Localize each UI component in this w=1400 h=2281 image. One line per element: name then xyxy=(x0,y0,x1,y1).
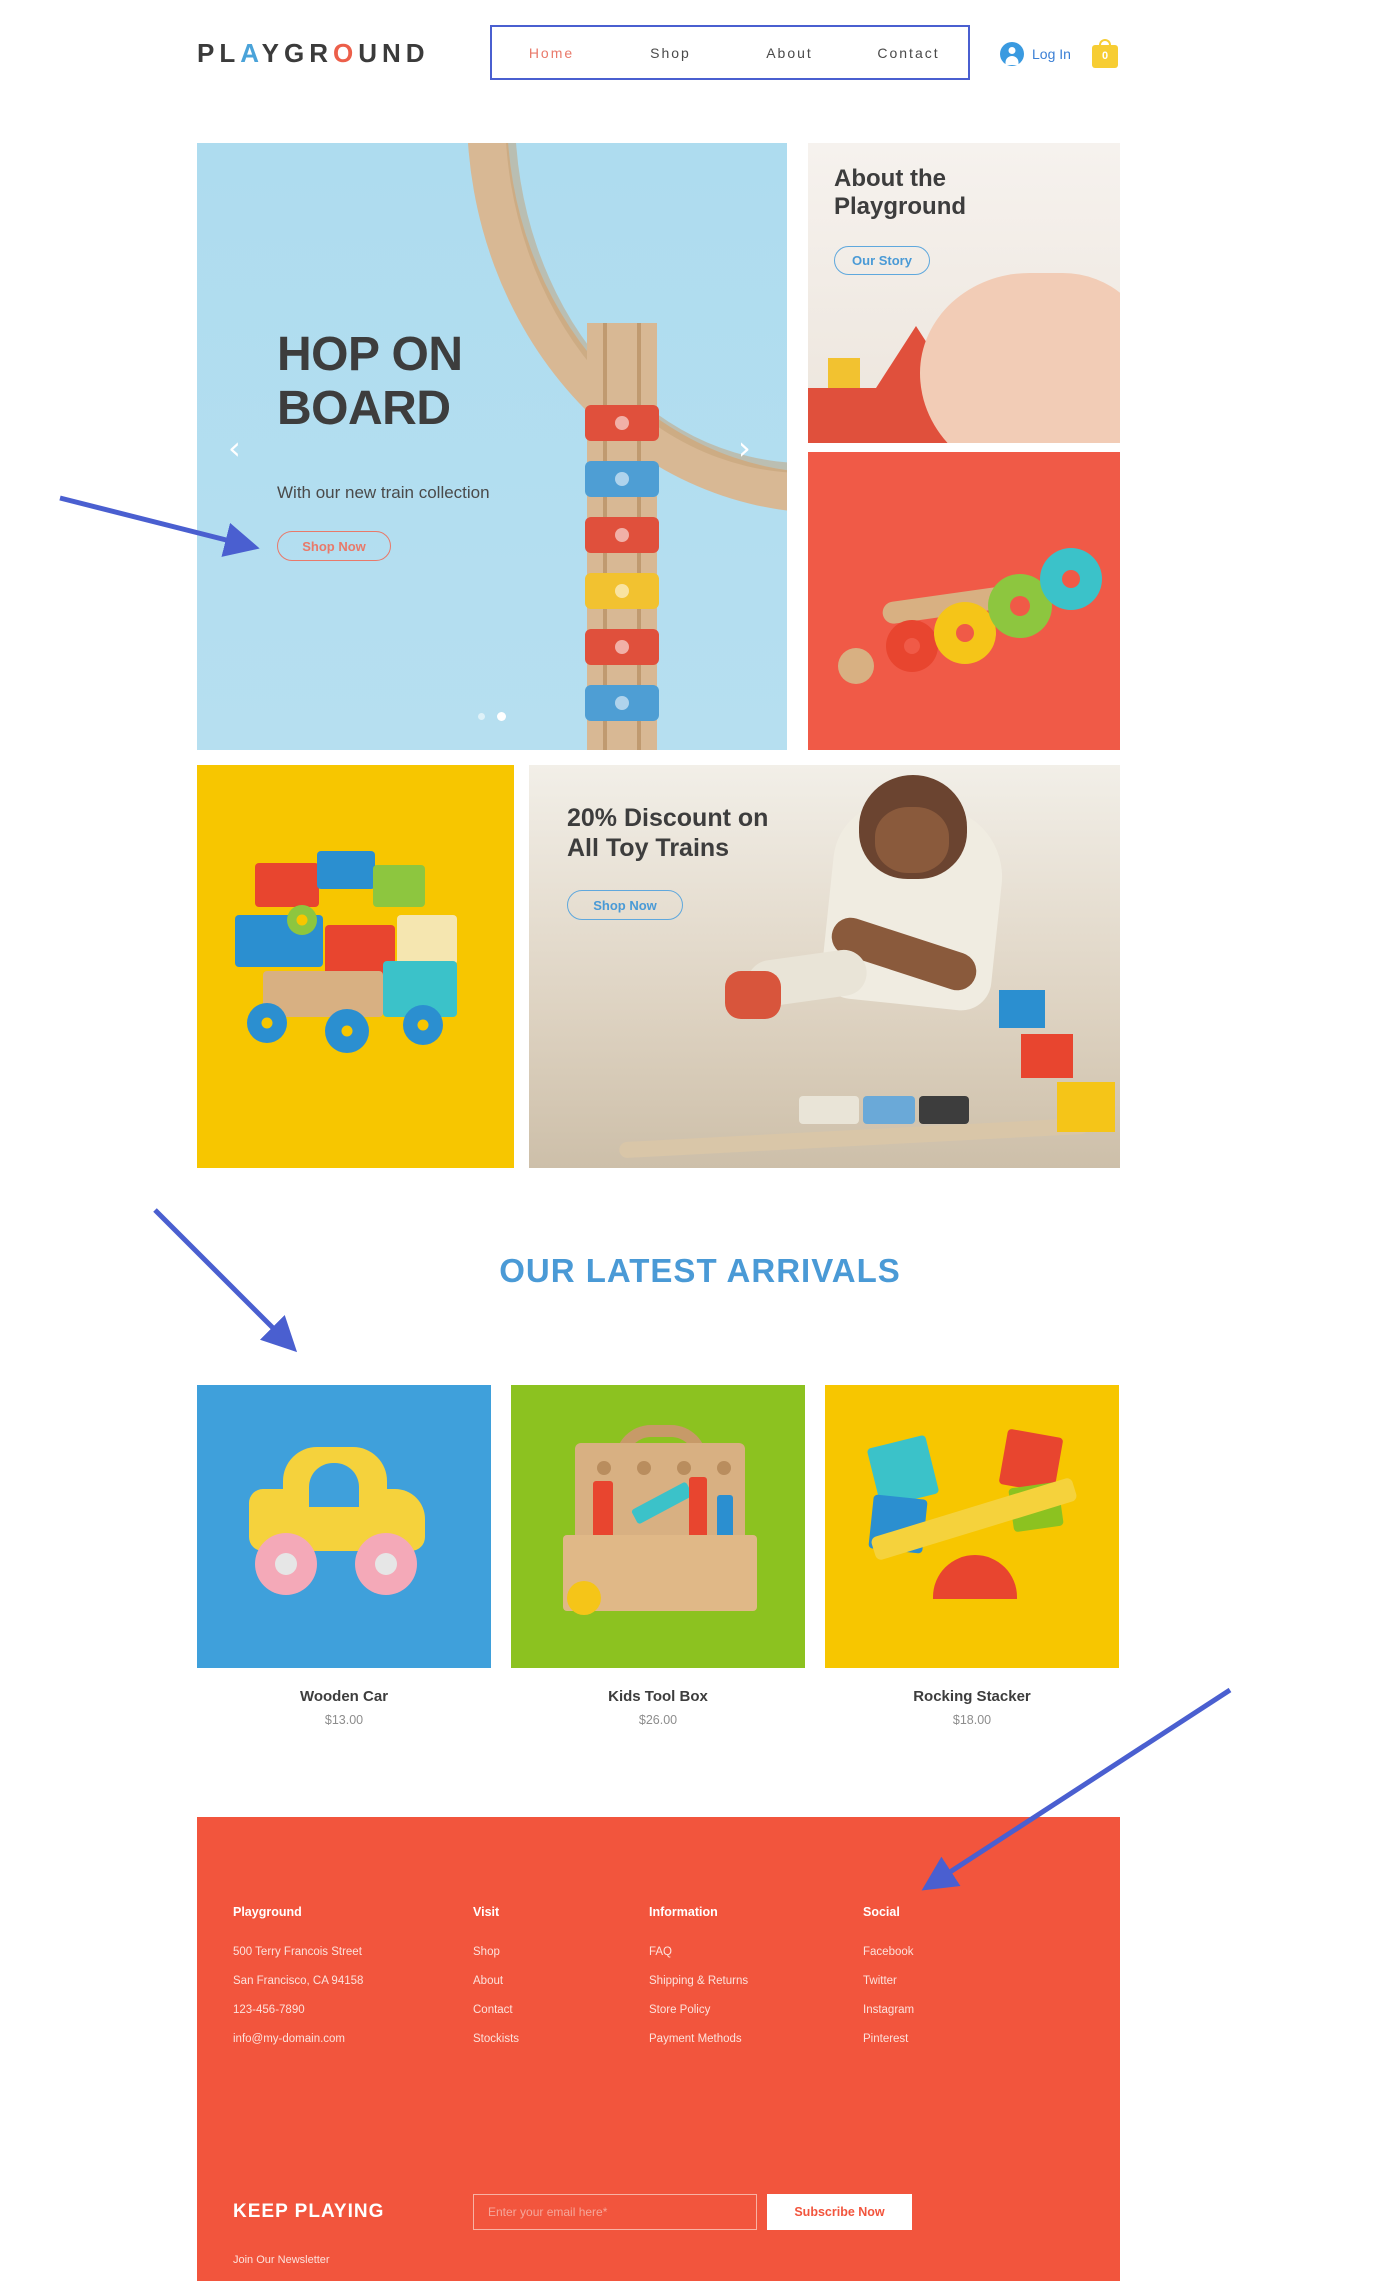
footer-column-playground: Playground 500 Terry Francois Street San… xyxy=(233,1905,363,2062)
stacker-ring-hole-art xyxy=(1062,570,1080,588)
footer-link-payment-methods[interactable]: Payment Methods xyxy=(649,2033,748,2045)
footer-link-about[interactable]: About xyxy=(473,1975,519,1987)
hero-subtitle: With our new train collection xyxy=(277,483,490,503)
carousel-dots xyxy=(478,713,506,721)
product-price: $26.00 xyxy=(511,1713,805,1727)
carousel-dot-1[interactable] xyxy=(478,713,485,720)
primary-nav: Home Shop About Contact xyxy=(490,25,970,80)
product-image-kids-tool-box[interactable] xyxy=(511,1385,805,1668)
subscribe-now-button[interactable]: Subscribe Now xyxy=(767,2194,912,2230)
footer-email[interactable]: info@my-domain.com xyxy=(233,2033,363,2045)
footer-column-title: Visit xyxy=(473,1905,519,1919)
carousel-prev-arrow-icon[interactable]: ‹ xyxy=(228,432,241,464)
train-car-art xyxy=(799,1096,859,1124)
stacker-ring-hole-art xyxy=(904,638,920,654)
toy-block-art xyxy=(397,915,457,965)
toy-block-art xyxy=(1021,1034,1073,1078)
discount-banner-card[interactable]: 20% Discount on All Toy Trains Shop Now xyxy=(529,765,1120,1168)
newsletter-heading: KEEP PLAYING xyxy=(233,2201,384,2223)
train-piece-art xyxy=(585,685,659,721)
latest-arrivals-heading: OUR LATEST ARRIVALS xyxy=(0,1252,1400,1290)
toy-block-art xyxy=(999,990,1045,1028)
footer-column-social: Social Facebook Twitter Instagram Pinter… xyxy=(863,1905,914,2062)
discount-title: 20% Discount on All Toy Trains xyxy=(567,803,768,863)
about-title-line-1: About the xyxy=(834,165,966,193)
product-image-wooden-car[interactable] xyxy=(197,1385,491,1668)
tool-box-hole-art xyxy=(637,1461,651,1475)
logo-letter-o: O xyxy=(333,38,358,68)
child-sock-art xyxy=(725,971,781,1019)
cart-icon[interactable]: 0 xyxy=(1092,38,1118,68)
toy-knob-art xyxy=(287,905,317,935)
login-button[interactable]: Log In xyxy=(1000,42,1071,66)
product-price: $13.00 xyxy=(197,1713,491,1727)
toy-wheel-art xyxy=(247,1003,287,1043)
carousel-next-arrow-icon[interactable]: › xyxy=(738,432,751,464)
footer-link-instagram[interactable]: Instagram xyxy=(863,2004,914,2016)
our-story-button[interactable]: Our Story xyxy=(834,246,930,275)
stacker-ring-art xyxy=(838,648,874,684)
logo-letter-a: A xyxy=(240,38,261,68)
hero-title-line-2: BOARD xyxy=(277,382,597,436)
product-image-rocking-stacker[interactable] xyxy=(825,1385,1119,1668)
toy-block-art xyxy=(255,863,319,907)
footer-column-title: Playground xyxy=(233,1905,363,1919)
stacker-base-art xyxy=(933,1555,1017,1599)
nav-item-about[interactable]: About xyxy=(730,45,849,61)
hero-title-line-1: HOP ON xyxy=(277,328,597,382)
tool-box-hole-art xyxy=(717,1461,731,1475)
hero-title: HOP ON BOARD xyxy=(277,328,597,436)
train-car-art xyxy=(863,1096,915,1124)
site-header: PLAYGROUND Home Shop About Contact Log I… xyxy=(0,0,1400,88)
footer-column-title: Information xyxy=(649,1905,748,1919)
about-card-title: About the Playground xyxy=(834,165,966,220)
toy-car-wheel-art xyxy=(255,1533,317,1595)
toy-car-window-art xyxy=(309,1463,359,1507)
footer-column-title: Social xyxy=(863,1905,914,1919)
carousel-dot-2[interactable] xyxy=(497,712,506,721)
product-name: Wooden Car xyxy=(197,1688,491,1705)
product-price: $18.00 xyxy=(825,1713,1119,1727)
logo-part-pre: PL xyxy=(197,38,240,68)
annotation-arrow-latest-arrivals xyxy=(150,1205,340,1375)
footer-link-stockists[interactable]: Stockists xyxy=(473,2033,519,2045)
product-card-rocking-stacker[interactable]: Rocking Stacker $18.00 xyxy=(825,1385,1119,1727)
toy-wheel-art xyxy=(403,1005,443,1045)
logo-part-mid: YGR xyxy=(262,38,333,68)
toy-block-art xyxy=(373,865,425,907)
train-piece-art xyxy=(585,629,659,665)
logo-part-post: UND xyxy=(358,38,429,68)
toy-block-art xyxy=(1057,1082,1115,1132)
hero-shop-now-button[interactable]: Shop Now xyxy=(277,531,391,561)
toy-wheel-art xyxy=(325,1009,369,1053)
about-title-line-2: Playground xyxy=(834,193,966,221)
footer-phone[interactable]: 123-456-7890 xyxy=(233,2004,363,2016)
footer-column-information: Information FAQ Shipping & Returns Store… xyxy=(649,1905,748,2062)
footer-link-shipping-returns[interactable]: Shipping & Returns xyxy=(649,1975,748,1987)
toy-car-wheel-art xyxy=(355,1533,417,1595)
site-footer: Playground 500 Terry Francois Street San… xyxy=(197,1817,1120,2281)
newsletter-subheading: Join Our Newsletter xyxy=(233,2254,330,2266)
stacker-ring-hole-art xyxy=(1010,596,1030,616)
about-playground-card[interactable]: About the Playground Our Story xyxy=(808,143,1120,443)
nav-item-contact[interactable]: Contact xyxy=(849,45,968,61)
tool-box-hole-art xyxy=(677,1461,691,1475)
stacker-ring-hole-art xyxy=(956,624,974,642)
footer-link-facebook[interactable]: Facebook xyxy=(863,1946,914,1958)
page-root: PLAYGROUND Home Shop About Contact Log I… xyxy=(0,0,1400,2281)
footer-link-contact[interactable]: Contact xyxy=(473,2004,519,2016)
product-card-kids-tool-box[interactable]: Kids Tool Box $26.00 xyxy=(511,1385,805,1727)
tool-box-hole-art xyxy=(597,1461,611,1475)
user-avatar-icon xyxy=(1000,42,1024,66)
footer-link-shop[interactable]: Shop xyxy=(473,1946,519,1958)
discount-title-line-2: All Toy Trains xyxy=(567,833,768,863)
train-piece-art xyxy=(585,461,659,497)
toy-tool-art xyxy=(567,1581,601,1615)
about-card-cube-art xyxy=(828,358,860,388)
footer-column-visit: Visit Shop About Contact Stockists xyxy=(473,1905,519,2062)
product-name: Kids Tool Box xyxy=(511,1688,805,1705)
child-face-art xyxy=(875,807,949,873)
cart-count-badge: 0 xyxy=(1092,50,1118,62)
footer-link-faq[interactable]: FAQ xyxy=(649,1946,748,1958)
stacker-toy-card[interactable] xyxy=(808,452,1120,750)
login-label: Log In xyxy=(1032,46,1071,62)
newsletter-email-input[interactable] xyxy=(473,2194,757,2230)
product-name: Rocking Stacker xyxy=(825,1688,1119,1705)
footer-address-line-1: 500 Terry Francois Street xyxy=(233,1946,363,1958)
footer-address-line-2: San Francisco, CA 94158 xyxy=(233,1975,363,1987)
hero-carousel[interactable]: HOP ON BOARD With our new train collecti… xyxy=(197,143,787,750)
discount-title-line-1: 20% Discount on xyxy=(567,803,768,833)
nav-item-home[interactable]: Home xyxy=(492,45,611,61)
discount-shop-now-button[interactable]: Shop Now xyxy=(567,890,683,920)
toy-block-art xyxy=(317,851,375,889)
nav-item-shop[interactable]: Shop xyxy=(611,45,730,61)
site-logo[interactable]: PLAYGROUND xyxy=(197,38,430,69)
train-car-art xyxy=(919,1096,969,1124)
footer-link-pinterest[interactable]: Pinterest xyxy=(863,2033,914,2045)
footer-link-twitter[interactable]: Twitter xyxy=(863,1975,914,1987)
footer-link-store-policy[interactable]: Store Policy xyxy=(649,2004,748,2016)
wooden-train-toy-card[interactable] xyxy=(197,765,514,1168)
train-piece-art xyxy=(585,517,659,553)
product-card-wooden-car[interactable]: Wooden Car $13.00 xyxy=(197,1385,491,1727)
train-piece-art xyxy=(585,573,659,609)
